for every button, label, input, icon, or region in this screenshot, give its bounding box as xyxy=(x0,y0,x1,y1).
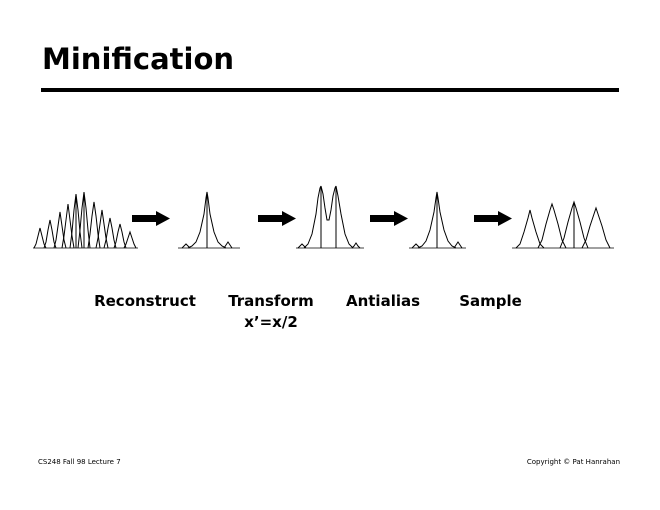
pipeline-label-reconstruct: Reconstruct xyxy=(86,292,204,310)
pipeline-labels: Reconstruct Transform x’=x/2 Antialias S… xyxy=(0,292,660,332)
pipeline-label-reconstruct-text: Reconstruct xyxy=(94,292,196,310)
pipeline-diagram xyxy=(0,180,660,290)
signal-replicated-spectrum-graphic xyxy=(510,180,618,260)
pipeline-label-sample-text: Sample xyxy=(459,292,522,310)
pipeline-arrow-icon xyxy=(474,210,514,228)
title-divider xyxy=(41,88,619,92)
signal-replicated-spectrum xyxy=(510,180,618,260)
signal-dense-spectrum-graphic xyxy=(32,180,140,260)
pipeline-label-sample: Sample xyxy=(443,292,538,310)
signal-dense-spectrum xyxy=(32,180,140,260)
pipeline-label-transform-formula: x’=x/2 xyxy=(212,313,330,331)
pipeline-arrow-icon xyxy=(132,210,172,228)
pipeline-label-transform-text: Transform xyxy=(228,292,314,310)
footer-copyright: Copyright © Pat Hanrahan xyxy=(527,458,620,466)
footer-course-info: CS248 Fall 98 Lecture 7 xyxy=(38,458,121,466)
slide: Minification xyxy=(0,0,660,510)
pipeline-label-transform: Transform x’=x/2 xyxy=(212,292,330,331)
pipeline-label-antialias: Antialias xyxy=(330,292,436,310)
pipeline-label-antialias-text: Antialias xyxy=(346,292,420,310)
page-title: Minification xyxy=(42,42,234,76)
